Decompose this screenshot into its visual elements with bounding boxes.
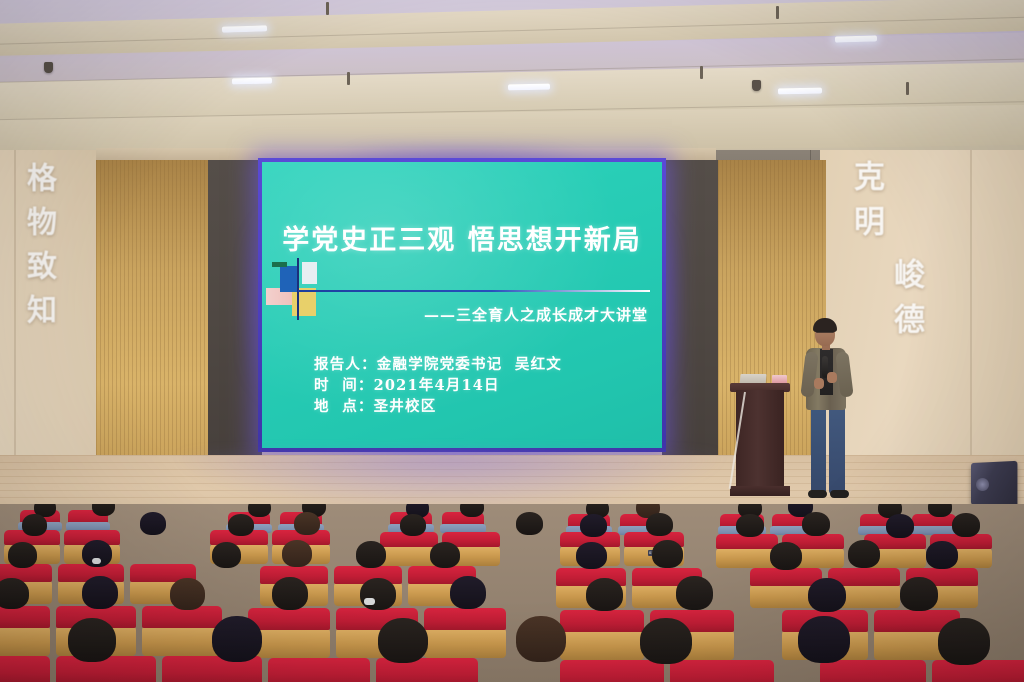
presenter-shoe-left xyxy=(808,490,827,498)
presenter-hand-left xyxy=(814,378,824,389)
ceiling xyxy=(0,0,1024,165)
ceiling-speaker-icon xyxy=(752,80,761,91)
ceiling-sprinkler-icon xyxy=(700,66,703,79)
audience-seating-area: 01 01 01 xyxy=(0,504,1024,682)
slide-title: 学党史正三观 悟思想开新局 xyxy=(262,218,662,257)
right-side-wall: 克明 峻德 xyxy=(820,150,1024,495)
screen-status-marker xyxy=(272,262,287,267)
slide-divider-rule xyxy=(298,290,650,292)
slide-body-text: 报告人：金融学院党委书记 吴红文 时 间：2021年4月14日 地 点：圣井校区 xyxy=(314,354,562,417)
ceiling-strip-light xyxy=(232,78,272,85)
ceiling-strip-light xyxy=(835,35,877,42)
auditorium-photo: 格物致知 克明 峻德 学党史正三观 悟思想开新局 ——三全育人之成长成才大讲堂 … xyxy=(0,0,1024,682)
presenter-leg-left xyxy=(811,406,826,494)
slide-decoration-white xyxy=(302,262,317,284)
glasses-icon xyxy=(816,330,834,333)
stage-light-glow xyxy=(170,452,730,512)
slide-decoration-yellow xyxy=(292,288,316,316)
wall-calligraphy-right-upper: 克明 xyxy=(844,160,889,250)
ceiling-sprinkler-icon xyxy=(347,72,350,85)
presenter-leg-right xyxy=(829,406,845,494)
ceiling-sprinkler-icon xyxy=(776,6,779,19)
left-side-wall: 格物致知 xyxy=(0,150,100,495)
wall-calligraphy-left: 格物致知 xyxy=(16,162,60,338)
ceiling-sprinkler-icon xyxy=(326,2,329,15)
ceiling-strip-light xyxy=(508,84,550,91)
slide-line-presenter: 报告人：金融学院党委书记 吴红文 xyxy=(314,356,562,373)
slide-line-place: 地 点：圣井校区 xyxy=(314,398,436,415)
ceiling-sprinkler-icon xyxy=(906,82,909,95)
ceiling-strip-light xyxy=(778,88,822,95)
wood-slat-panel-left xyxy=(96,160,208,480)
slide-line-time: 时 间：2021年4月14日 xyxy=(314,377,500,394)
pa-speaker-cone-icon xyxy=(976,478,989,491)
ceiling-speaker-icon xyxy=(44,62,53,73)
slide-subtitle: ——三全育人之成长成才大讲堂 xyxy=(424,304,648,325)
slide-decoration-line xyxy=(297,258,299,320)
presenter-shoe-right xyxy=(830,490,849,498)
wall-calligraphy-right-lower: 峻德 xyxy=(884,258,929,348)
projection-screen: 学党史正三观 悟思想开新局 ——三全育人之成长成才大讲堂 报告人：金融学院党委书… xyxy=(262,162,662,448)
presenter-hand-right xyxy=(827,372,837,383)
ceiling-strip-light xyxy=(222,25,267,32)
podium-base xyxy=(730,486,790,496)
